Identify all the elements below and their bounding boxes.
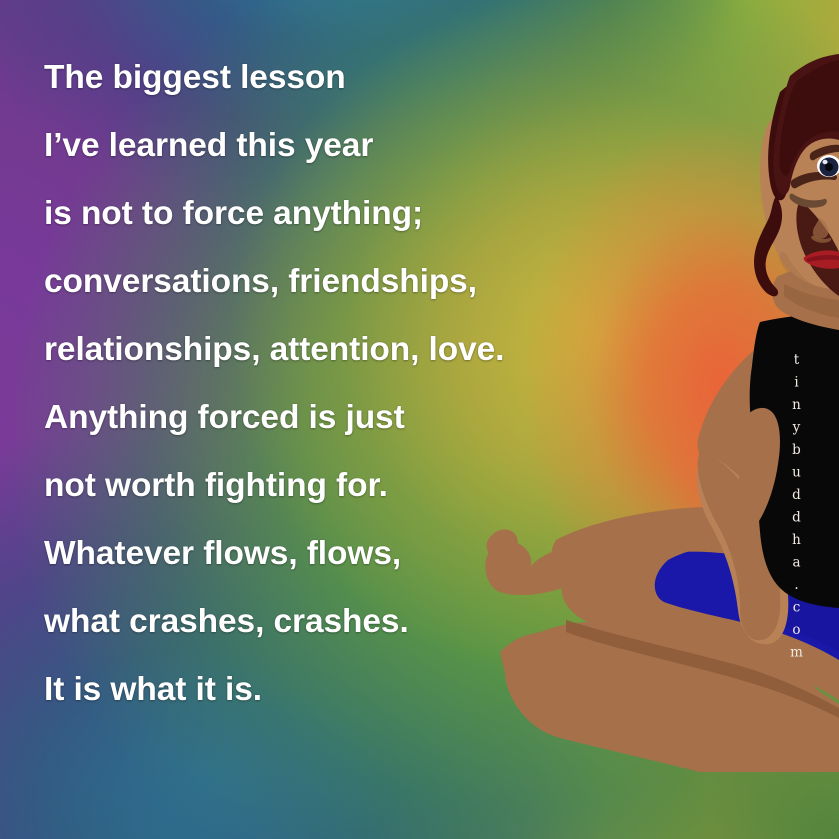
quote-block: The biggest lesson I’ve learned this yea… (44, 44, 604, 724)
eye-pupil (825, 163, 833, 171)
quote-line-10: It is what it is. (44, 656, 604, 724)
quote-line-7: not worth fighting for. (44, 452, 604, 520)
quote-graphic-canvas: The biggest lesson I’ve learned this yea… (0, 0, 839, 839)
quote-line-5: relationships, attention, love. (44, 316, 604, 384)
quote-line-2: I’ve learned this year (44, 112, 604, 180)
quote-line-8: Whatever flows, flows, (44, 520, 604, 588)
eye-highlight (822, 160, 827, 164)
quote-line-4: conversations, friendships, (44, 248, 604, 316)
quote-line-3: is not to force anything; (44, 180, 604, 248)
quote-line-1: The biggest lesson (44, 44, 604, 112)
tinybuddha-watermark: tinybuddha.com (789, 352, 803, 667)
quote-line-9: what crashes, crashes. (44, 588, 604, 656)
quote-line-6: Anything forced is just (44, 384, 604, 452)
